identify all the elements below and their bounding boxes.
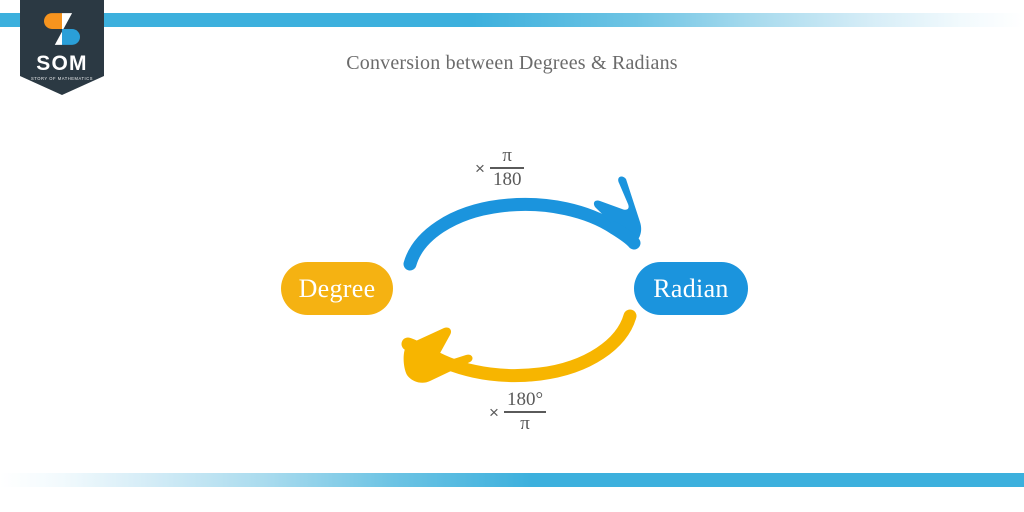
fraction-numerator-bottom: 180° [504,390,546,410]
node-degree[interactable]: Degree [281,262,393,315]
node-radian-label: Radian [653,274,728,304]
node-radian[interactable]: Radian [634,262,748,315]
edge-label-radian-to-degree: × 180° π [489,390,546,434]
fraction-numerator-top: π [499,146,515,166]
fraction-denominator-top: 180 [490,170,525,190]
edge-label-degree-to-radian: × π 180 [475,146,524,190]
fraction-denominator-bottom: π [517,414,533,434]
node-degree-label: Degree [299,274,376,304]
conversion-cycle-diagram [0,0,1024,512]
multiplication-sign-bottom: × [489,403,499,423]
arrow-degree-to-radian [410,176,641,264]
slide-canvas: SOM STORY OF MATHEMATICS Conversion betw… [0,0,1024,512]
fraction-180-over-pi: 180° π [504,390,546,434]
multiplication-sign-top: × [475,159,485,179]
fraction-pi-over-180: π 180 [490,146,525,190]
arrow-radian-to-degree [404,316,630,383]
